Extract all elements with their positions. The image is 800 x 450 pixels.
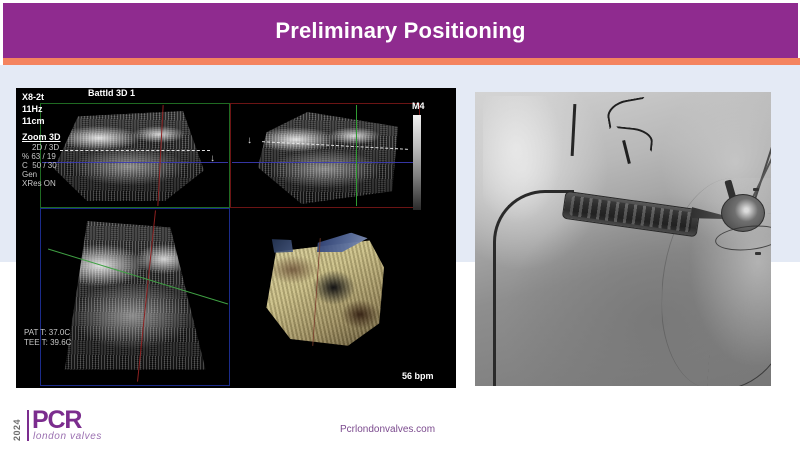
echo-sector-elevation: [54, 111, 204, 201]
echocardiography-panel[interactable]: ↓ ↓ X8-2t 11Hz 11cm Zoom 3D 2D / 3D % 63…: [16, 88, 456, 388]
fluoroscopy-panel[interactable]: [475, 92, 771, 386]
logo-divider: [27, 410, 29, 441]
xres-label: XRes ON: [22, 179, 56, 189]
patient-temp-label: PAT T: 37.0C: [24, 328, 70, 338]
slide-header: Preliminary Positioning: [3, 3, 798, 58]
direction-arrow-azimuth: ↓: [247, 136, 252, 146]
battery-id-label: BattId 3D 1: [88, 88, 135, 99]
reference-blue-line-elevation: [42, 162, 228, 163]
tee-temp-label: TEE T: 39.6C: [24, 338, 71, 348]
footer-website-url[interactable]: Pcrlondonvalves.com: [340, 424, 435, 435]
probe-marker-label: M4: [412, 101, 425, 112]
slide-canvas: Preliminary Positioning ↓ ↓: [0, 0, 800, 450]
pcr-london-valves-logo: 2024 PCR london valves: [12, 409, 132, 443]
depth-label: 11cm: [22, 116, 45, 127]
header-accent-bar: [3, 58, 800, 65]
reference-dashed-line-elevation: [60, 150, 210, 151]
probe-label: X8-2t: [22, 92, 44, 103]
logo-year: 2024: [12, 419, 22, 441]
direction-arrow-elevation: ↓: [210, 154, 215, 164]
heart-rate-label: 56 bpm: [402, 371, 434, 382]
grayscale-reference-bar: [413, 115, 421, 210]
lead-electrode-marker-1: [753, 188, 759, 191]
page-title: Preliminary Positioning: [3, 3, 798, 58]
delivery-catheter-shaft: [493, 190, 574, 386]
frame-rate-label: 11Hz: [22, 104, 43, 115]
mode-label: Zoom 3D: [22, 132, 61, 142]
logo-subtitle: london valves: [33, 431, 102, 442]
reference-green-line-azimuth: [356, 105, 357, 206]
reference-blue-line-azimuth: [232, 162, 418, 163]
